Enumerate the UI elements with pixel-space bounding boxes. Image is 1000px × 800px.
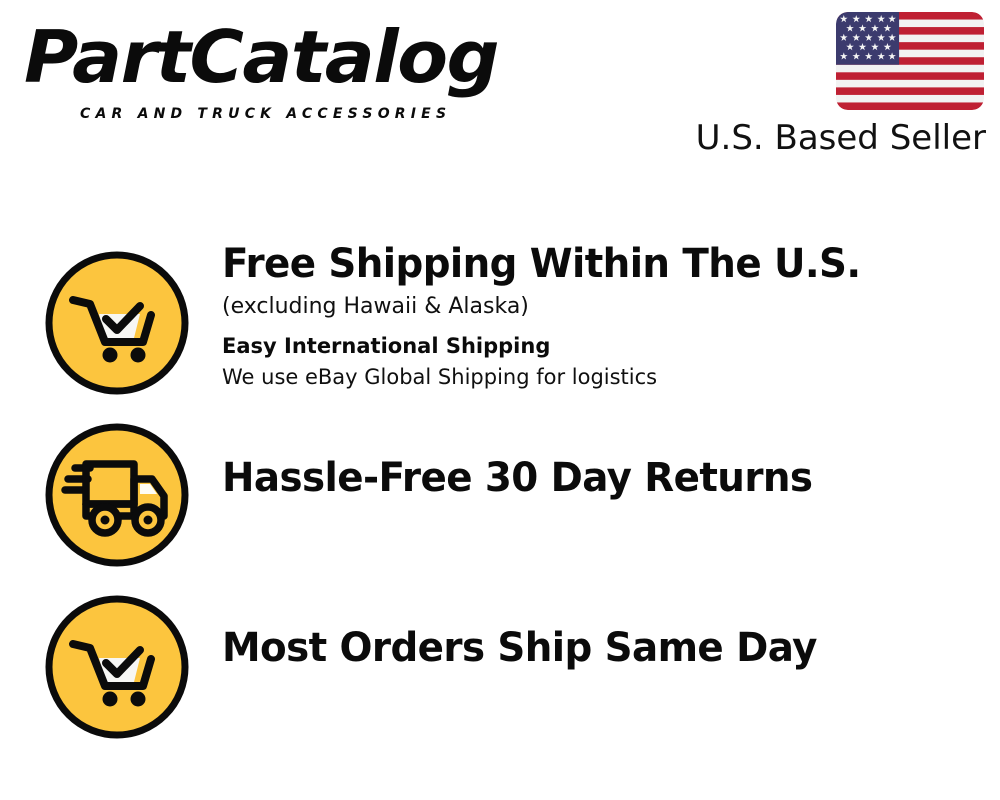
delivery-truck-icon <box>44 422 190 568</box>
seller-label: U.S. Based Seller <box>696 118 986 158</box>
seller-badge: U.S. Based Seller <box>686 12 986 157</box>
feature-title: Hassle-Free 30 Day Returns <box>222 454 957 502</box>
feature-title: Most Orders Ship Same Day <box>222 624 957 672</box>
feature-text-block: Hassle-Free 30 Day Returns <box>222 454 980 502</box>
logo-tagline: CAR AND TRUCK ACCESSORIES <box>80 106 451 122</box>
shopping-cart-check-icon <box>44 594 190 740</box>
feature-sub-plain: We use eBay Global Shipping for logistic… <box>222 362 980 392</box>
shopping-cart-check-icon <box>44 250 190 396</box>
logo-wordmark: PartCatalog <box>24 20 508 94</box>
feature-title: Free Shipping Within The U.S. <box>222 240 957 288</box>
header-banner: PartCatalog CAR AND TRUCK ACCESSORIES <box>0 0 1000 170</box>
feature-row: Hassle-Free 30 Day Returns <box>0 418 1000 568</box>
brand-logo: PartCatalog CAR AND TRUCK ACCESSORIES <box>24 20 494 120</box>
us-flag-icon <box>836 12 984 110</box>
feature-row: Most Orders Ship Same Day <box>0 588 1000 743</box>
feature-text-block: Free Shipping Within The U.S. (excluding… <box>222 240 980 392</box>
feature-sub-strong: Easy International Shipping <box>222 332 980 361</box>
feature-subtitle: (excluding Hawaii & Alaska) <box>222 292 980 322</box>
feature-text-block: Most Orders Ship Same Day <box>222 624 980 672</box>
feature-row: Free Shipping Within The U.S. (excluding… <box>0 240 1000 410</box>
